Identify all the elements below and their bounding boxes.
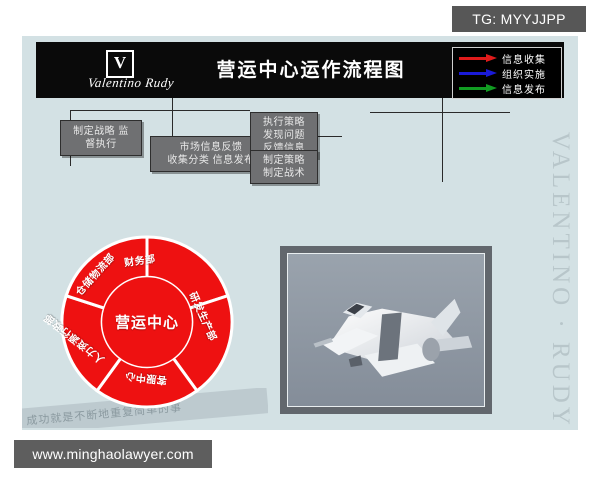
logo-v-mark: V	[106, 50, 134, 78]
slide-canvas: VALENTINO · RUDY V Valentino Rudy 营运中心运作…	[22, 36, 578, 430]
connector-v-right	[442, 98, 443, 182]
strategy-box: 制定战略 监 督执行	[60, 120, 142, 156]
legend-label-2: 信息发布	[502, 81, 546, 96]
photo-frame	[280, 246, 492, 414]
market-info-line-0: 市场信息反馈	[180, 141, 243, 154]
page-title: 营运中心运作流程图	[186, 55, 436, 82]
connector-h-top-left	[70, 110, 250, 111]
arrow-icon-green	[459, 84, 497, 93]
brand-watermark-vertical: VALENTINO · RUDY	[546, 132, 574, 429]
legend-label-1: 组织实施	[502, 66, 546, 81]
photo-inner	[287, 253, 485, 407]
market-info-line-1: 收集分类 信息发布	[167, 154, 254, 167]
legend-item-2: 信息发布	[453, 82, 561, 95]
strategy-box-line-0: 制定战略 监	[73, 125, 129, 138]
donut-center-label: 营运中心	[115, 311, 179, 332]
tg-badge: TG: MYYJJPP	[452, 6, 586, 32]
fighter-jet-image	[288, 254, 484, 406]
execute-line-1: 发现问题	[263, 129, 305, 142]
legend-label-0: 信息收集	[502, 51, 546, 66]
tactics-box: 制定策略 制定战术	[250, 150, 318, 184]
connector-h-right-top	[370, 112, 510, 113]
legend: 信息收集 组织实施 信息发布	[452, 47, 562, 99]
valentino-rudy-logo: V Valentino Rudy	[76, 48, 186, 96]
tactics-line-0: 制定策略	[263, 154, 305, 167]
execute-line-0: 执行策略	[263, 116, 305, 129]
strategy-box-line-1: 督执行	[85, 138, 117, 151]
arrow-icon-blue	[459, 69, 497, 78]
legend-item-1: 组织实施	[453, 67, 561, 80]
slide-header: V Valentino Rudy 营运中心运作流程图 信息收集	[36, 42, 564, 98]
tactics-line-1: 制定战术	[263, 167, 305, 180]
screenshot-root: TG: MYYJJPP VALENTINO · RUDY V Valentino…	[0, 0, 600, 480]
site-watermark: www.minghaolawyer.com	[14, 440, 212, 468]
operations-center-donut-chart: 营运中心 财务部 研发生产部 客服中心 人力资源行政部 仓储物流部	[42, 234, 252, 409]
logo-script-text: Valentino Rudy	[75, 75, 187, 91]
legend-item-0: 信息收集	[453, 52, 561, 65]
arrow-icon-red	[459, 54, 497, 63]
